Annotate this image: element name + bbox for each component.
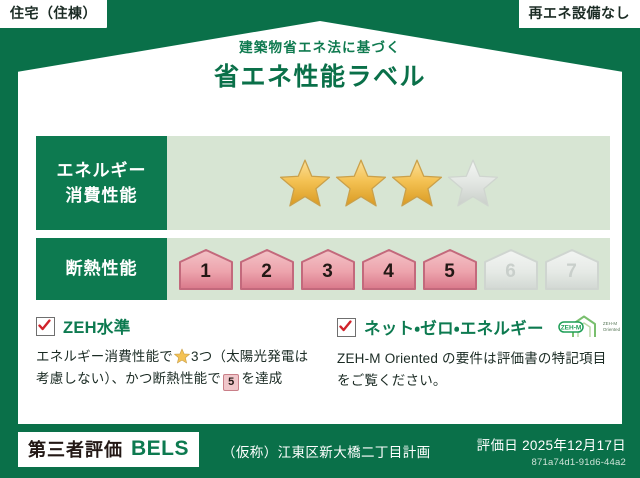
insulation-grade-1: 1 xyxy=(177,248,235,290)
dwelling-type-tag: 住宅（住棟） xyxy=(0,0,107,28)
renewable-equipment-tag: 再エネ設備なし xyxy=(519,0,640,28)
net-zero-title: ネット・ゼロ・エネルギー xyxy=(364,315,544,339)
insulation-grade-number: 5 xyxy=(444,262,455,290)
insulation-grade-4: 4 xyxy=(360,248,418,290)
star-rating xyxy=(167,136,610,230)
zeh-text-part3: を達成 xyxy=(241,371,282,386)
star-icon-3 xyxy=(391,157,443,209)
star-icon-1 xyxy=(279,157,331,209)
zeh-m-logo-sub1: ZEH-M xyxy=(603,321,617,326)
insulation-grade-number: 3 xyxy=(322,262,333,290)
bels-badge: 第三者評価 BELS xyxy=(18,432,199,467)
net-zero-energy-note: ネット・ゼロ・エネルギー ZEH-M ZEH-M Oriented ZEH-M … xyxy=(323,314,610,393)
insulation-grade-6: 6 xyxy=(482,248,540,290)
energy-performance-label: 住宅（住棟） 再エネ設備なし 建築物省エネ法に基づく 省エネ性能ラベル エネルギ… xyxy=(0,0,640,478)
insulation-grade-scale: 1234567 xyxy=(177,248,601,290)
energy-performance-label: エネルギー 消費性能 xyxy=(36,136,167,230)
evaluation-date: 評価日 2025年12月17日 xyxy=(477,434,626,454)
insulation-grade-number: 6 xyxy=(505,262,516,290)
zeh-checkbox xyxy=(36,317,55,336)
project-name: （仮称）江東区新大橋二丁目計画 xyxy=(222,441,431,461)
insulation-grade-3: 3 xyxy=(299,248,357,290)
insulation-grade-2: 2 xyxy=(238,248,296,290)
zeh-m-logo-sub2: Oriented xyxy=(603,327,620,332)
insulation-grade-5: 5 xyxy=(421,248,479,290)
energy-label-line2: 消費性能 xyxy=(66,183,138,209)
star-icon-2 xyxy=(335,157,387,209)
star-icon-4-empty xyxy=(447,157,499,209)
notes-section: ZEH水準 エネルギー消費性能で 3つ（太陽光発電は考慮しない）、かつ断熱性能で… xyxy=(36,314,610,393)
insulation-grade-number: 1 xyxy=(200,262,211,290)
zeh-m-logo-icon: ZEH-M ZEH-M Oriented xyxy=(558,314,620,340)
net-zero-checkbox xyxy=(337,318,356,337)
zeh-text-part1: エネルギー消費性能で xyxy=(36,349,173,364)
footer: 第三者評価 BELS （仮称）江東区新大橋二丁目計画 評価日 2025年12月1… xyxy=(0,424,640,478)
insulation-performance-row: 断熱性能 1234567 xyxy=(36,238,610,300)
title-subtitle: 建築物省エネ法に基づく xyxy=(0,40,640,56)
svg-text:ZEH-M: ZEH-M xyxy=(561,325,582,332)
evaluation-info: 評価日 2025年12月17日 871a74d1-91d6-44a2 xyxy=(477,434,626,468)
bels-en-label: BELS xyxy=(131,437,189,461)
zeh-title: ZEH水準 xyxy=(63,314,131,338)
net-zero-description: ZEH-M Oriented の要件は評価書の特記項目をご覧ください。 xyxy=(337,348,610,393)
bels-jp-label: 第三者評価 xyxy=(28,436,123,462)
insulation-grade-chip: 5 xyxy=(223,374,239,391)
insulation-performance-label: 断熱性能 xyxy=(36,238,167,300)
insulation-grade-7: 7 xyxy=(543,248,601,290)
insulation-grade-number: 2 xyxy=(261,262,272,290)
energy-label-line1: エネルギー xyxy=(57,158,147,184)
zeh-standard-note: ZEH水準 エネルギー消費性能で 3つ（太陽光発電は考慮しない）、かつ断熱性能で… xyxy=(36,314,323,393)
energy-performance-row: エネルギー 消費性能 xyxy=(36,136,610,230)
title-block: 建築物省エネ法に基づく 省エネ性能ラベル xyxy=(0,40,640,93)
inline-star-icon xyxy=(174,348,190,364)
insulation-grade-number: 4 xyxy=(383,262,394,290)
insulation-label-line1: 断熱性能 xyxy=(66,258,138,280)
insulation-grade-number: 7 xyxy=(566,262,577,290)
zeh-description: エネルギー消費性能で 3つ（太陽光発電は考慮しない）、かつ断熱性能で5を達成 xyxy=(36,346,309,391)
evaluation-id: 871a74d1-91d6-44a2 xyxy=(477,457,626,468)
page-title: 省エネ性能ラベル xyxy=(0,62,640,93)
